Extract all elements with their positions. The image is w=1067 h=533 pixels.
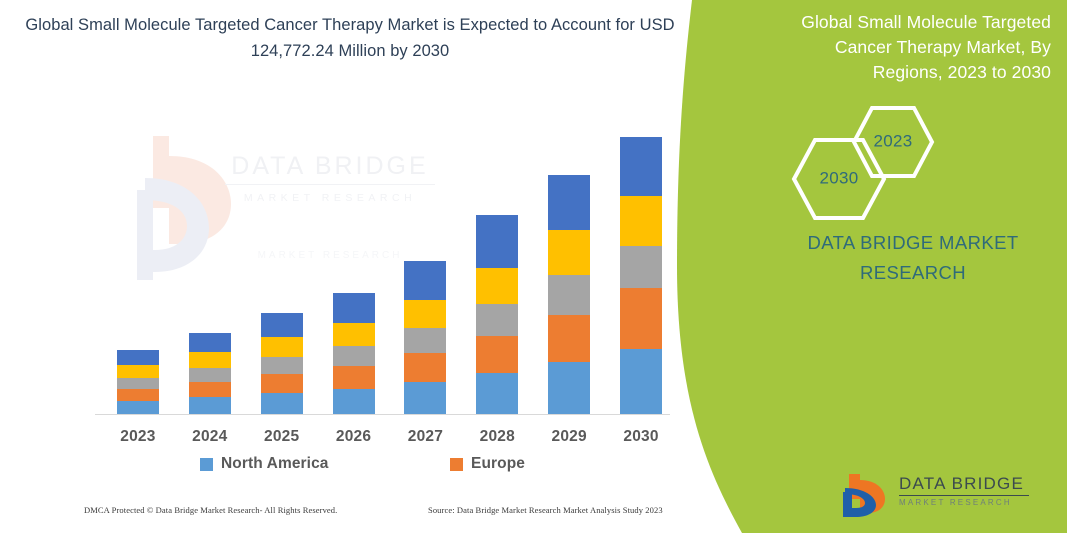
legend-label: Europe [471, 455, 525, 473]
bar-2025 [261, 313, 303, 414]
bar-segment [117, 389, 159, 401]
bar-segment [261, 313, 303, 337]
panel-brand-line2: RESEARCH [759, 258, 1067, 288]
bar-2026 [333, 293, 375, 414]
x-axis-label-2029: 2029 [529, 428, 609, 446]
bar-segment [189, 397, 231, 414]
bar-segment [476, 215, 518, 268]
logo-line1: DATA BRIDGE [899, 474, 1029, 494]
logo-line2: MARKET RESEARCH [899, 498, 1029, 508]
bar-segment [261, 337, 303, 357]
panel-brand-text: DATA BRIDGE MARKET RESEARCH [647, 228, 1067, 288]
bar-segment [548, 275, 590, 315]
chart-area: Global Small Molecule Targeted Cancer Th… [0, 0, 700, 533]
x-axis-label-2027: 2027 [385, 428, 465, 446]
bar-2028 [476, 215, 518, 414]
bar-segment [333, 389, 375, 414]
bar-segment [117, 350, 159, 365]
logo-wordmark: DATA BRIDGE MARKET RESEARCH [899, 474, 1029, 508]
brand-logo: DATA BRIDGE MARKET RESEARCH [843, 470, 1053, 520]
hexagon-label-2030: 2030 [791, 169, 887, 189]
bar-segment [404, 261, 446, 300]
x-axis-line [95, 414, 670, 415]
bar-segment [189, 352, 231, 368]
brand-panel: Global Small Molecule Targeted Cancer Th… [647, 0, 1067, 533]
bar-segment [476, 373, 518, 414]
bar-segment [189, 333, 231, 352]
x-axis-labels: 20232024202520262027202820292030 [95, 428, 670, 454]
bar-segment [548, 362, 590, 414]
footer-source: Source: Data Bridge Market Research Mark… [428, 505, 663, 515]
panel-brand-line1: DATA BRIDGE MARKET [759, 228, 1067, 258]
footer-copyright: DMCA Protected © Data Bridge Market Rese… [84, 505, 337, 515]
bar-segment [261, 393, 303, 414]
stacked-bar-plot [95, 100, 670, 415]
legend-item-europe[interactable]: Europe [450, 455, 525, 473]
legend-item-north-america[interactable]: North America [200, 455, 329, 473]
legend-label: North America [221, 455, 329, 473]
bar-segment [117, 401, 159, 414]
bar-segment [189, 382, 231, 397]
bar-segment [117, 365, 159, 378]
bar-segment [476, 304, 518, 336]
bar-2023 [117, 350, 159, 414]
bar-segment [333, 366, 375, 389]
bar-segment [404, 328, 446, 353]
legend-swatch-icon [450, 458, 463, 471]
legend-swatch-icon [200, 458, 213, 471]
bar-segment [261, 374, 303, 393]
bar-2024 [189, 333, 231, 414]
x-axis-label-2024: 2024 [170, 428, 250, 446]
bar-segment [476, 336, 518, 373]
bar-segment [548, 230, 590, 275]
bar-2027 [404, 261, 446, 414]
chart-legend: North AmericaEurope [95, 455, 670, 483]
logo-divider [899, 495, 1029, 496]
bar-segment [333, 323, 375, 346]
hexagon-badges: 2023 2030 [767, 105, 957, 205]
infographic-page: Global Small Molecule Targeted Cancer Th… [0, 0, 1067, 533]
bar-segment [333, 346, 375, 366]
page-title: Global Small Molecule Targeted Cancer Th… [0, 12, 700, 64]
data-bridge-logo-icon [843, 472, 893, 518]
bar-segment [548, 315, 590, 362]
x-axis-label-2025: 2025 [242, 428, 322, 446]
bar-segment [404, 353, 446, 382]
x-axis-label-2023: 2023 [98, 428, 178, 446]
bar-segment [117, 378, 159, 389]
panel-title: Global Small Molecule Targeted Cancer Th… [761, 10, 1051, 85]
x-axis-label-2026: 2026 [314, 428, 394, 446]
bar-segment [333, 293, 375, 323]
hexagon-badge-2030: 2030 [791, 137, 887, 221]
bar-2029 [548, 175, 590, 414]
footer: DMCA Protected © Data Bridge Market Rese… [0, 505, 700, 527]
bar-segment [404, 382, 446, 414]
bar-segment [548, 175, 590, 230]
bar-segment [404, 300, 446, 328]
bar-segment [476, 268, 518, 304]
bar-segment [261, 357, 303, 374]
x-axis-label-2028: 2028 [457, 428, 537, 446]
bar-segment [189, 368, 231, 382]
